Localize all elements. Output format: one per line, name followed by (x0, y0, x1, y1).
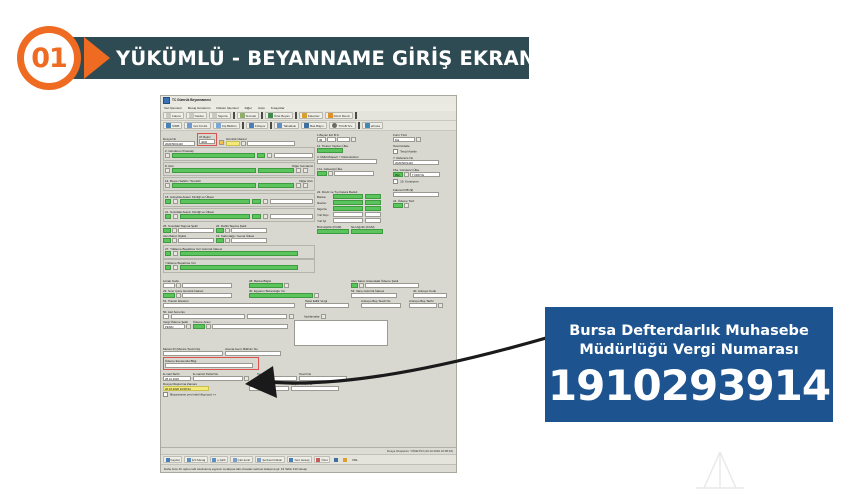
input-odeme-araci-code[interactable] (193, 324, 205, 329)
footer-note: Daha önce bir rejime tabi tutulmamış eşy… (161, 465, 456, 472)
input-alici-name[interactable] (172, 168, 256, 173)
checkbox-tescil-adetle[interactable]: Tescil Adetle (393, 149, 454, 154)
field-mukellef: 3. Mükl.Müşavir / Yükümsüzleri (317, 155, 391, 164)
page-icon (212, 113, 217, 118)
calendar-icon[interactable] (438, 303, 443, 308)
field-varis-gumruk: 53. Varış Gümrük İdaresi (351, 289, 411, 298)
gonderici-ulke-button[interactable] (404, 172, 409, 177)
field-odeme-araci: Ödeme Aracı (193, 320, 288, 329)
toolbar-label: SİMB (172, 124, 179, 128)
field-esya-bulundugu-yer: 30. Eşyanın Bulunduğu Yer (249, 289, 349, 298)
menu-item-mesaj-gonderim[interactable]: Mesaj Gönderim (188, 106, 211, 110)
button-label: İpS Mesaj (192, 458, 205, 462)
row-yukleme-idaresi-fields (165, 251, 313, 256)
menu-item-kisayollar[interactable]: Kısayollar (271, 106, 285, 110)
input-yukleme-yeri-name[interactable] (180, 265, 298, 270)
watermark-logo (690, 448, 750, 492)
upload-icon (343, 458, 347, 462)
input-esya-bulundugu-yer[interactable] (249, 293, 313, 298)
toolbar-button-tahakkuk[interactable]: Tahakkuk (274, 122, 299, 129)
input-sinirdaki-arac-extra[interactable] (270, 214, 313, 219)
label-sigorta: Sigorta (317, 207, 331, 211)
toolbar-label: Özet Beyan (274, 114, 290, 118)
input-gumruk-idaresi-code[interactable] (226, 141, 240, 146)
menu-item-diger[interactable]: Diğer (245, 106, 252, 110)
person-icon (216, 123, 221, 128)
section-cikis-arac: 18. Çıkış/ula Arasın Kimliği ve Ülkesi (163, 193, 315, 207)
table-icon (289, 458, 293, 462)
section-yukleme-bosaltma-idaresi: 27. Yükleme Boşaltma Yeri Gümrük İdaresi (163, 245, 315, 259)
button-label: XML (352, 458, 358, 462)
input-gonderen-extra[interactable] (274, 153, 313, 158)
toolbar-label: ePosta (371, 124, 380, 128)
input-sigorta-code[interactable] (365, 206, 381, 211)
input-banka-code[interactable] (365, 194, 381, 199)
label-beyanname-yeni: Beyanname yeni esbil ilirgi için( ++ (170, 392, 216, 396)
field-fatura-fob: Fatura FOB ($) (393, 188, 454, 197)
input-gonderen-name[interactable] (172, 153, 255, 158)
input-liman-kodu-name[interactable] (182, 283, 232, 288)
clock-icon (332, 123, 337, 128)
input-antrepo-kodu[interactable] (413, 293, 447, 298)
callout-line-2: Müdürlüğü Vergi Numarası (545, 341, 833, 360)
field-alici-satici: Alıcı/Satıcı İlişkisi (163, 234, 214, 243)
cikis-arac-lookup-button[interactable] (173, 199, 178, 204)
field-email-tarihi: E-mail Tarihi 28.10.2020 (163, 372, 191, 381)
yukleme-yeri-button[interactable] (173, 265, 178, 270)
input-tekst-edilir-vergi[interactable] (305, 303, 349, 308)
input-kabindagi-name[interactable] (231, 238, 267, 243)
field-brut-agirlik: Brüt Ağırlık (KGM) (317, 225, 349, 234)
row-gonderen-fields (165, 153, 313, 158)
row-alici-satici-iliskisi: Alıcı/Satıcı İlişkisi 19. Kabındağı / Ge… (163, 234, 315, 243)
input-gumruk-idaresi-name[interactable] (247, 141, 295, 146)
window-title: TC Gümrük Beyannamesi (172, 98, 211, 102)
toolbar-label: Kiş.Bildirim (222, 124, 237, 128)
field-sinirdaki-tasima: 25. Sınırdaki Taşıma Şekli (163, 224, 214, 233)
pointer-arrow-icon (235, 330, 555, 410)
row-beyan-sahibi-fields (165, 183, 313, 188)
rejim-lookup-button[interactable] (219, 140, 224, 145)
button-serbest-dokun[interactable]: Şerbest Dökün (255, 456, 285, 463)
toolbar-button-doviz-mevsi[interactable]: Döviz Mevsi (325, 112, 353, 119)
field-tescil-adedi: Tescil Adetle (393, 144, 454, 148)
input-beyan-a[interactable]: IM (317, 137, 326, 142)
input-mukellef[interactable] (317, 159, 377, 164)
input-yurt-ici-value[interactable] (333, 218, 363, 223)
aciklamalar-button[interactable] (321, 314, 326, 319)
section-yukleme-bosaltma-yeri: Yükleme Boşaltma Yeri (163, 259, 315, 273)
field-sinir-cikis-gumruk: 29. Sınır Çıkış Gümrük İdaresi (163, 289, 247, 298)
menu-item-veri-islemleri[interactable]: Veri İşlemleri (164, 106, 182, 110)
button-cikt-kontr[interactable]: Çıkt.kontr (230, 456, 253, 463)
field-odeme-sekli: Alıcı Satıcı Arasındaki Ödeme Şekli (351, 279, 447, 288)
odeme-tarz-button[interactable] (404, 203, 409, 208)
input-dahili-tasima-name[interactable] (231, 228, 267, 233)
input-gonderici-ulke-code[interactable]: 052 (393, 172, 403, 177)
row-yurt-disi: Yurt Dışı (317, 212, 391, 217)
input-asil-sorumlu-a[interactable] (163, 314, 169, 319)
input-transit-idareleri[interactable] (163, 303, 295, 308)
button-e-iptlb[interactable]: e-İptlb (210, 456, 228, 463)
input-referans-no[interactable]: 2020/5001420 (393, 160, 439, 165)
download-icon (334, 458, 338, 462)
yukleme-idaresi-button[interactable] (173, 251, 178, 256)
toolbar-label: Bas.Bilgm. (310, 124, 324, 128)
input-yurt-ici-code[interactable] (365, 218, 381, 223)
truck-icon (268, 113, 273, 118)
input-rejim[interactable]: 4000 (199, 139, 215, 144)
gidecegi-ulke-button[interactable] (328, 171, 333, 176)
input-sinirdaki-arac-name[interactable] (180, 214, 250, 219)
button-label: e-İptlb (217, 458, 225, 462)
input-cikis-arac-country[interactable] (252, 199, 262, 204)
input-yukleme-yeri-a[interactable] (165, 265, 171, 270)
input-odeme-araci-name[interactable] (212, 324, 288, 329)
mail-icon (365, 123, 370, 128)
input-dosya-no[interactable]: 2020/5001420 (163, 141, 195, 146)
row-sinirdaki-arac-fields (165, 214, 313, 219)
alici-next-button[interactable] (303, 168, 308, 173)
input-dosya-olusturma-zamani[interactable]: 20.10.2020 10:08:34 (163, 386, 209, 391)
field-beyan: 1.Beyan EU B.S. IM (317, 133, 356, 142)
input-alici-extra[interactable] (258, 168, 294, 173)
toolbar-button-kalemler[interactable]: Kalemler (299, 112, 323, 119)
page-title: YÜKÜMLÜ - BEYANNAME GİRİŞ EKRANI (116, 47, 516, 71)
checkbox-icon[interactable] (393, 179, 398, 184)
gumruk-idaresi-lookup-button[interactable] (241, 141, 246, 146)
sinirdaki-arac-country-button[interactable] (263, 214, 268, 219)
label-navlun: Navlun (317, 201, 331, 205)
row-alici-fields (165, 168, 313, 173)
save-icon (166, 458, 170, 462)
alici-lookup-button[interactable] (165, 168, 170, 173)
input-beyan-eu[interactable] (327, 137, 336, 142)
app-icon (163, 97, 170, 104)
row-cikis-arac-fields (165, 199, 313, 204)
toolbar-button-sigorta[interactable]: Sigorta (209, 112, 231, 119)
input-beyan-sahibi-extra[interactable] (258, 183, 294, 188)
input-gidecegi-ulke-name[interactable] (334, 171, 374, 176)
input-sinirdaki-tasima-code[interactable] (163, 228, 171, 233)
beyan-sahibi-prev-button[interactable] (296, 183, 301, 188)
toolbar-button-simb[interactable]: SİMB (163, 122, 182, 129)
banka-bilgisi-button[interactable] (284, 283, 289, 288)
section-doviz-fatura: 22. Döviz ve Tıp Fatura Bedeli Banka Nav… (317, 190, 391, 234)
db-icon (166, 123, 171, 128)
row-beyan-tipi: 1.Beyan EU B.S. IM (317, 133, 391, 142)
kabindagi-button[interactable] (225, 238, 230, 243)
input-alici-satici-name[interactable] (178, 238, 214, 243)
toolbar-label: Gnr.Kl.Hrk. (193, 124, 208, 128)
toolbar-separator (233, 112, 235, 119)
field-net-agirlik: Net Ağırlık (KGM) (351, 225, 383, 234)
row-yukleme-yeri-fields (165, 265, 313, 270)
toolbar-label: TCGB Srv. (338, 124, 352, 128)
field-asil-sorumlu: 50. Asıl Sorumlu Açıklamalar (163, 310, 454, 319)
input-yukleme-idaresi-a[interactable] (165, 251, 171, 256)
input-liman-kodu-code[interactable] (163, 283, 175, 288)
toolbar-label: Tahakkuk (283, 124, 296, 128)
input-sinir-cikis-code[interactable] (163, 293, 175, 298)
form-left-column: Dosya No 2020/5001420 37.Rejim 4000 Gümr… (163, 133, 315, 273)
app-footer: Dosya Oluşturan: YÖNETİCİ (20.10.2020 10… (161, 447, 456, 472)
input-cikis-arac-extra[interactable] (270, 199, 313, 204)
button-ips-mesaj[interactable]: İpS Mesaj (184, 456, 207, 463)
input-antrepo-tescil-no[interactable] (361, 303, 401, 308)
input-cikis-arac-name[interactable] (180, 199, 250, 204)
input-navlun-code[interactable] (365, 200, 381, 205)
cart-icon (187, 123, 192, 128)
sinirdaki-arac-lookup-button[interactable] (173, 214, 178, 219)
row-sinir-esya-varis-antrepo: 29. Sınır Çıkış Gümrük İdaresi 30. Eşyan… (163, 289, 454, 298)
message-icon (187, 458, 191, 462)
label-banka: Banka (317, 195, 331, 199)
row-yurt-ici: Yurt İçi (317, 218, 391, 223)
field-mersis-id: Mersis ID (Mersis Tescil No) (163, 347, 223, 356)
input-asil-sorumlu-name[interactable] (171, 314, 245, 319)
callout-tax-number: 1910293914 (545, 363, 833, 409)
input-mersis-id[interactable] (163, 351, 223, 356)
input-banka-value[interactable] (333, 194, 363, 199)
field-gonderici-ulke: 15a. Gönderici Ülke 052 TÜRKİYE (393, 168, 454, 177)
beyan-sahibi-next-button[interactable] (303, 183, 308, 188)
page-icon (166, 113, 171, 118)
app-window: TC Gümrük Beyannamesi Veri İşlemleri Mes… (160, 95, 457, 473)
input-varis-gumruk[interactable] (351, 293, 397, 298)
liman-kodu-button[interactable] (176, 283, 181, 288)
button-ozet[interactable]: Özet (314, 456, 330, 463)
report-icon (316, 458, 320, 462)
toolbar-label: Teminat (246, 114, 257, 118)
beyan-lookup-button[interactable] (351, 137, 356, 142)
menu-item-arsiv[interactable]: Arşiv (258, 106, 265, 110)
row-banka: Banka (317, 194, 391, 199)
toolbar-button-ozet-beyan[interactable]: Özet Beyan (265, 112, 293, 119)
select-form-turu[interactable]: Dia (393, 137, 415, 142)
calc-icon (277, 123, 282, 128)
input-net-agirlik[interactable] (351, 229, 383, 234)
dahili-tasima-button[interactable] (225, 228, 230, 233)
input-fatura-fob[interactable] (393, 192, 439, 197)
input-email-tarihi[interactable]: 28.10.2020 (163, 376, 191, 381)
input-sinirdaki-tasima-name[interactable] (178, 228, 214, 233)
button-label: Özet (321, 458, 327, 462)
button-yeni-hesap[interactable]: Yeni Hesap (287, 456, 312, 463)
sinir-cikis-button[interactable] (176, 293, 181, 298)
button-label: Şerbest Dökün (262, 458, 282, 462)
toolbar-label: F.Rapor (255, 124, 266, 128)
input-asil-sorumlu-extra[interactable] (247, 314, 287, 319)
button-label: Kaydet (171, 458, 180, 462)
input-yukleme-idaresi-name[interactable] (180, 251, 298, 256)
field-tekst-edilir-vergi: Tekst Edilir Vergi (305, 299, 359, 308)
field-banka-bilgisi: 28. Banka Bilgisi (249, 279, 349, 288)
section-sinirdaki-arac: 21. Sınırdaki Aracın Kimliği ve Ülkesi (163, 208, 315, 222)
alici-satici-button[interactable] (172, 238, 177, 243)
window-titlebar: TC Gümrük Beyannamesi (161, 96, 456, 104)
field-odeme-tarz: 24. Ödeme Tarz (393, 199, 454, 208)
sinirdaki-tasima-button[interactable] (172, 228, 177, 233)
field-dosya-no: Dosya No 2020/5001420 (163, 137, 195, 146)
toolbar-button-bas-bilgm[interactable]: Bas.Bilgm. (301, 122, 327, 129)
grid-icon (328, 113, 333, 118)
section-beyan-sahibi: 14. Beyan Sahibi / Temsilci Diğer Alıcı (163, 177, 315, 191)
form-right-column: Form Türü Dia Tescil Adetle Tescil Adetl… (393, 133, 454, 208)
field-antrepo-kodu: 40. Antrepo Kodu (413, 289, 453, 298)
alici-prev-button[interactable] (296, 168, 301, 173)
row-tasima-sekli: 25. Sınırdaki Taşıma Şekli 26. Dahili Ta… (163, 224, 315, 233)
print-icon (257, 458, 261, 462)
toolbar-button-gnr-kl-hrk[interactable]: Gnr.Kl.Hrk. (184, 122, 211, 129)
field-gumruk-idaresi: Gümrük İdaresi (226, 137, 295, 146)
menu-bar[interactable]: Veri İşlemleri Mesaj Gönderim Döküm İşle… (161, 104, 456, 111)
menu-item-dokum-islemleri[interactable]: Döküm İşlemleri (216, 106, 238, 110)
toolbar-separator (358, 122, 360, 129)
field-ticaret-yapilan-ulke: 11. Ticaret Yapılan Ülke (317, 144, 391, 153)
input-antrepo-tarihi[interactable] (409, 303, 437, 308)
input-sinirdaki-arac-country[interactable] (252, 214, 262, 219)
pencil-icon (240, 113, 245, 118)
input-banka-bilgisi-code[interactable] (249, 283, 283, 288)
callout-box: Bursa Defterdarlık Muhasebe Müdürlüğü Ve… (545, 307, 833, 422)
gonderen-detail-button[interactable] (267, 153, 272, 158)
input-odeme-sekli-name[interactable] (365, 283, 419, 288)
field-kabindagi: 19. Kabındağı / Genel Ülkesi (216, 234, 267, 243)
input-sinirdaki-arac-a[interactable] (165, 214, 171, 219)
field-dosya-olusturma-zamani: Dosya Oluşturma Zamanı 20.10.2020 10:08:… (163, 382, 209, 391)
toolbar-button-tcgb-srv[interactable]: TCGB Srv. (329, 122, 355, 129)
field-gidecegi-ulke: 17a. Gideceği Ülke (317, 167, 391, 176)
chevron-down-icon[interactable] (416, 137, 421, 142)
flag-icon (304, 123, 309, 128)
toolbar-button-navlun[interactable]: Navlun (186, 112, 207, 119)
input-alici-satici-code[interactable] (163, 238, 171, 243)
input-beyan-sahibi-name[interactable] (172, 183, 256, 188)
field-liman-kodu: Liman Kodu (163, 279, 247, 288)
checkbox-icon[interactable] (163, 392, 168, 397)
field-form-turu: Form Türü Dia (393, 133, 454, 142)
checkbox-icon[interactable] (393, 149, 398, 154)
toolbar-separator (295, 112, 297, 119)
label-tescil-checkbox: Tescil Adetle (400, 149, 417, 153)
toolbar-label: Navlun (195, 114, 204, 118)
button-upload[interactable] (341, 457, 348, 462)
field-vergi-odeme-sekli: Vergi Ödeme Şekli PEŞİN (163, 320, 191, 329)
esya-bulundugu-yer-button[interactable] (314, 293, 319, 298)
row-brut-agirlik: Brüt Ağırlık (KGM) Net Ağırlık (KGM) (317, 225, 391, 234)
toolbar-label: Kalemler (308, 114, 320, 118)
toolbar-button-teminat[interactable]: Teminat (237, 112, 260, 119)
input-navlun-value[interactable] (333, 200, 363, 205)
button-xml[interactable]: XML (350, 457, 359, 462)
row-transit-vergi-antrepo: 51. Transit İdareleri Tekst Edilir Vergi… (163, 299, 454, 308)
section-alici: 8. Alıcı Diğer Gönderici (163, 162, 315, 176)
field-rejim-highlighted: 37.Rejim 4000 (197, 133, 217, 146)
gonderen-lookup-button[interactable] (165, 153, 170, 158)
input-sigorta-value[interactable] (333, 206, 363, 211)
toolbar-row-1[interactable]: Fatura Navlun Sigorta Teminat Özet Beyan… (161, 111, 456, 121)
section-gonderen-ihracatci: 2. Gönderen İhracatçı (163, 147, 315, 161)
row-sigorta: Sigorta (317, 206, 391, 211)
input-gonderici-ulke-name[interactable]: TÜRKİYE (410, 172, 440, 177)
input-brut-agirlik[interactable] (317, 229, 349, 234)
input-sinir-cikis-name[interactable] (182, 293, 232, 298)
input-yurt-disi-value[interactable] (333, 212, 363, 217)
page-icon (189, 113, 194, 118)
cikis-arac-country-button[interactable] (263, 199, 268, 204)
toolbar-button-kis-bildirim[interactable]: Kiş.Bildirim (213, 122, 240, 129)
input-cikis-arac-a[interactable] (165, 199, 171, 204)
input-gonderen-code[interactable] (257, 153, 265, 158)
header-row-dosya: Dosya No 2020/5001420 37.Rejim 4000 Gümr… (163, 133, 315, 146)
print-icon (233, 458, 237, 462)
label-tescil-adedi: Tescil Adetle (393, 144, 410, 148)
footer-button-bar[interactable]: Kaydet İpS Mesaj e-İptlb Çıkt.kontr Şerb… (161, 454, 456, 465)
chevron-down-icon[interactable] (186, 324, 191, 329)
toolbar-label: Döviz Mevsi (334, 114, 350, 118)
input-yurt-disi-code[interactable] (365, 212, 381, 217)
callout-line-1: Bursa Defterdarlık Muhasebe (545, 322, 833, 341)
table-icon (249, 123, 254, 128)
toolbar-separator (242, 122, 244, 129)
input-gidecegi-ulke-code[interactable] (317, 171, 327, 176)
button-kaydet[interactable]: Kaydet (163, 456, 182, 463)
input-beyan-bs[interactable] (337, 137, 350, 142)
field-referans-no: 7. Referans No 2020/5001420 (393, 156, 454, 165)
toolbar-label: Fatura (172, 114, 181, 118)
field-transit-idareleri: 51. Transit İdareleri (163, 299, 303, 308)
input-kabindagi-code[interactable] (216, 238, 224, 243)
form-middle-column: 1.Beyan EU B.S. IM 11. Ticaret Yapılan Ü… (317, 133, 391, 235)
toolbar-separator (261, 112, 263, 119)
input-ticaret-ulke[interactable] (317, 148, 343, 153)
field-antrepo-tarihi: Antrepo Beş Tarihi (409, 299, 449, 308)
toolbar-button-f-rapor[interactable]: F.Rapor (246, 122, 269, 129)
beyan-sahibi-lookup-button[interactable] (165, 183, 170, 188)
field-aciklamalar: Açıklamalar (304, 314, 326, 319)
select-vergi-odeme-sekli[interactable]: PEŞİN (163, 324, 185, 329)
field-dahili-tasima: 26. Dahili Taşıma Şekli (216, 224, 267, 233)
step-badge-inner: 01 (24, 33, 74, 83)
button-download[interactable] (332, 457, 339, 462)
checkbox-konteyner[interactable]: 19. Konteyner (393, 179, 454, 184)
row-asil-sorumlu: Açıklamalar (163, 314, 454, 319)
badge-arrow-icon (84, 37, 110, 79)
odeme-araci-button[interactable] (206, 324, 211, 329)
field-antrepo-tescil-no: Antrepo Beş Tescil No (361, 299, 407, 308)
folder-icon (302, 113, 307, 118)
row-navlun: Navlun (317, 200, 391, 205)
toolbar-button-fatura[interactable]: Fatura (163, 112, 184, 119)
toolbar-label: Sigorta (218, 114, 228, 118)
label-yurt-disi: Yurt Dışı (317, 213, 331, 217)
input-odeme-tarz-code[interactable] (393, 203, 403, 208)
step-number: 01 (31, 45, 67, 72)
odeme-sekli-button[interactable] (359, 283, 364, 288)
toolbar-button-eposta[interactable]: ePosta (362, 122, 383, 129)
label-yurt-ici: Yurt İçi (317, 219, 331, 223)
toolbar-row-2[interactable]: SİMB Gnr.Kl.Hrk. Kiş.Bildirim F.Rapor Ta… (161, 121, 456, 131)
mail-icon (212, 458, 216, 462)
label-konteyner: 19. Konteyner (400, 180, 419, 184)
toolbar-separator (355, 112, 357, 119)
label-aciklamalar: Açıklamalar (304, 314, 320, 318)
button-label: Çıkt.kontr (238, 458, 251, 462)
input-odeme-sekli-code[interactable] (351, 283, 358, 288)
input-dahili-tasima-code[interactable] (216, 228, 224, 233)
asil-sorumlu-button[interactable] (289, 314, 294, 319)
